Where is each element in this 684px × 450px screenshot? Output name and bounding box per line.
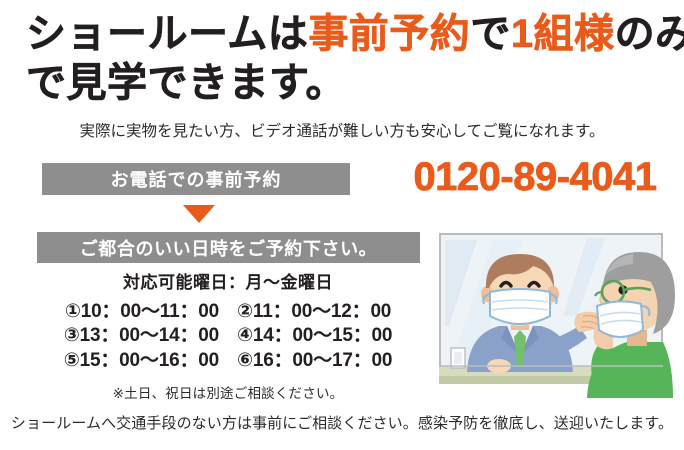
headline-text-3: のみ — [615, 12, 684, 56]
triangle-down-icon — [183, 205, 215, 223]
page-title: ショールームは事前予約で1組様のみ で見学できます。 — [26, 10, 674, 108]
phone-reservation-label: お電話での事前予約 — [42, 163, 350, 195]
footer-note: ショールームへ交通手段のない方は事前にご相談ください。感染予防を徹底し、送迎いた… — [0, 412, 684, 433]
time-slot: ①10：00〜11：00 — [65, 300, 219, 324]
headline-accent-2: 1組様 — [511, 12, 615, 56]
phone-number[interactable]: 0120-89-4041 — [392, 155, 678, 200]
time-slot: ④14：00〜15：00 — [237, 324, 392, 348]
reserve-prompt-label: ご都合のいい日時をご予約下さい。 — [37, 232, 420, 263]
slot-row: ③13：00〜14：00 ④14：00〜15：00 — [28, 324, 428, 348]
banner-canvas: ショールームは事前予約で1組様のみ で見学できます。 実際に実物を見たい方、ビデ… — [0, 0, 684, 450]
headline-line-1: ショールームは事前予約で1組様のみ — [26, 10, 674, 59]
schedule-block: 対応可能曜日：月〜金曜日 ①10：00〜11：00 ②11：00〜12：00 ③… — [28, 268, 428, 402]
time-slot: ②11：00〜12：00 — [237, 300, 391, 324]
showroom-consultation-illustration — [437, 230, 675, 398]
available-days-label: 対応可能曜日：月〜金曜日 — [28, 268, 428, 293]
schedule-note: ※土日、祝日は別途ご相談ください。 — [28, 382, 428, 402]
lead-text: 実際に実物を見たい方、ビデオ通話が難しい方も安心してご覧になれます。 — [0, 122, 684, 142]
time-slot: ⑥16：00〜17：00 — [237, 349, 392, 373]
headline-text-1: ショールームは — [26, 12, 308, 56]
headline-text-2: で — [470, 12, 511, 56]
time-slot: ③13：00〜14：00 — [64, 324, 219, 348]
slot-row: ①10：00〜11：00 ②11：00〜12：00 — [28, 300, 428, 324]
headline-line-2: で見学できます。 — [26, 59, 674, 108]
slot-row: ⑤15：00〜16：00 ⑥16：00〜17：00 — [28, 349, 428, 373]
phone-reservation-row: お電話での事前予約 0120-89-4041 — [0, 163, 684, 197]
time-slot: ⑤15：00〜16：00 — [64, 349, 219, 373]
headline-accent-1: 事前予約 — [308, 12, 470, 56]
